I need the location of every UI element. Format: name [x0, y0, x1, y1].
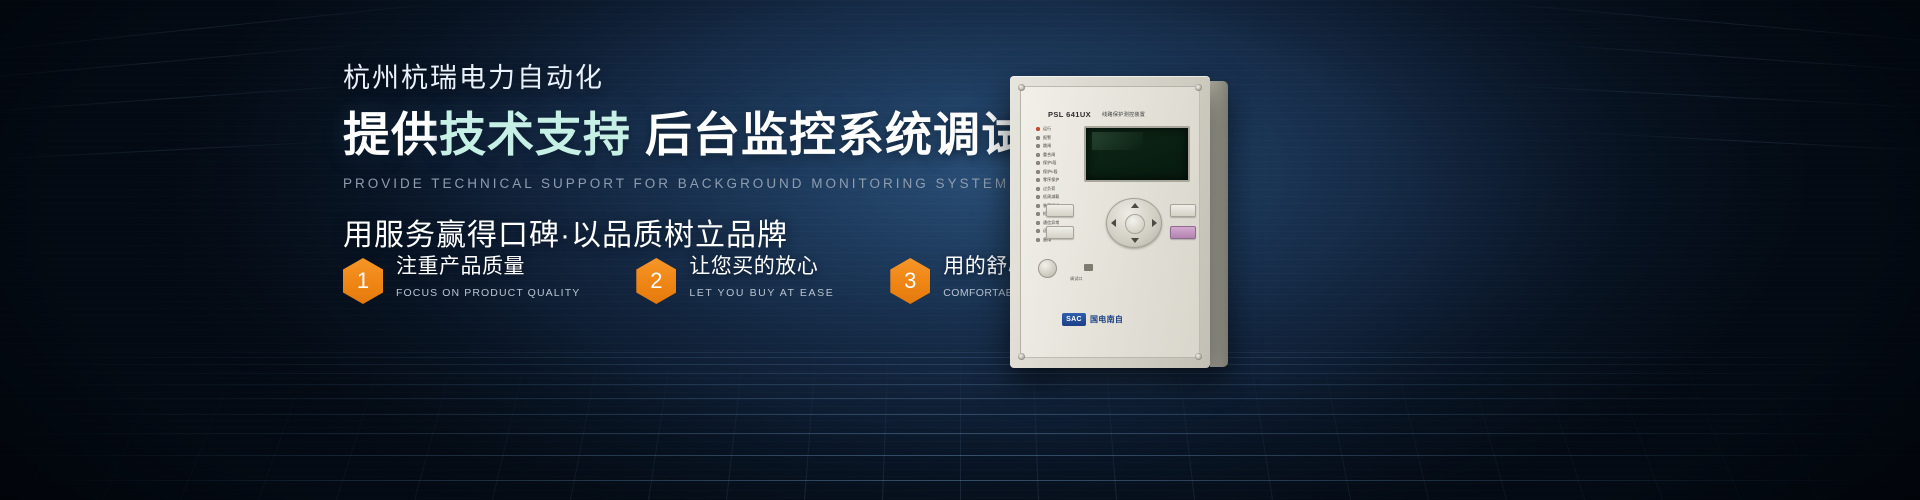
- led-indicator-icon: [1036, 221, 1040, 225]
- arrow-up-icon[interactable]: [1131, 203, 1139, 208]
- device-led-row: 报警: [1036, 134, 1080, 143]
- device-case: PSL 641UX 线路保护测控装置 运行报警跳闸重合闸保护I段保护II段零序保…: [1010, 76, 1210, 368]
- screw-icon: [1195, 84, 1202, 91]
- device-lcd-screen: [1084, 126, 1190, 182]
- grid-line-vertical: [180, 350, 242, 500]
- grid-line-horizontal: [0, 364, 1920, 365]
- led-indicator-icon: [1036, 204, 1040, 208]
- led-indicator-icon: [1036, 170, 1040, 174]
- headline-part-1: 提供: [343, 108, 439, 161]
- promo-banner: 杭州杭瑞电力自动化 提供技术支持后台监控系统调试 PROVIDE TECHNIC…: [0, 0, 1920, 500]
- led-label: 保护II段: [1043, 169, 1058, 175]
- grid-line-vertical: [1679, 350, 1741, 500]
- grid-line-vertical: [1321, 350, 1351, 500]
- grid-line-vertical: [726, 350, 744, 500]
- feature-text: 让您买的放心 LET YOU BUY AT EASE: [689, 255, 834, 299]
- arrow-left-icon[interactable]: [1111, 219, 1116, 227]
- grid-line-vertical: [960, 350, 961, 500]
- led-indicator-icon: [1036, 144, 1040, 148]
- banner-english-subtitle: PROVIDE TECHNICAL SUPPORT FOR BACKGROUND…: [343, 176, 983, 191]
- grid-line-vertical: [1822, 350, 1897, 500]
- device-button[interactable]: [1046, 226, 1074, 239]
- light-streak: [0, 141, 340, 161]
- perspective-grid: [0, 350, 1920, 500]
- light-streak: [1481, 1, 1920, 47]
- feature-number: 2: [636, 258, 676, 304]
- grid-line-vertical: [1249, 350, 1273, 500]
- grid-line-vertical: [1751, 350, 1819, 500]
- feature-title-cn: 注重产品质量: [396, 255, 580, 278]
- grid-line-vertical: [1465, 350, 1507, 500]
- brand-name: 国电南自: [1090, 314, 1123, 325]
- device-led-row: 低周减载: [1036, 193, 1080, 202]
- device-led-row: 运行: [1036, 125, 1080, 134]
- feature-text: 注重产品质量 FOCUS ON PRODUCT QUALITY: [396, 255, 580, 299]
- banner-kicker: 杭州杭瑞电力自动化: [343, 62, 983, 94]
- led-label: 零序保护: [1043, 177, 1059, 183]
- device-led-row: 零序保护: [1036, 176, 1080, 185]
- light-streak: [0, 1, 459, 56]
- grid-line-vertical: [1393, 350, 1429, 500]
- screw-icon: [1018, 84, 1025, 91]
- light-streak: [0, 42, 389, 84]
- light-streak: [1500, 85, 1920, 109]
- led-indicator-icon: [1036, 153, 1040, 157]
- grid-line-horizontal: [0, 414, 1920, 415]
- led-indicator-icon: [1036, 178, 1040, 182]
- screw-icon: [1195, 353, 1202, 360]
- grid-line-vertical: [336, 350, 385, 500]
- grid-line-horizontal: [0, 433, 1920, 434]
- grid-line-vertical: [1892, 350, 1920, 500]
- led-indicator-icon: [1036, 195, 1040, 199]
- feature-title-cn: 让您买的放心: [689, 255, 834, 278]
- device-case-side: [1210, 81, 1228, 367]
- led-indicator-icon: [1036, 127, 1040, 131]
- banner-copy: 杭州杭瑞电力自动化 提供技术支持后台监控系统调试 PROVIDE TECHNIC…: [343, 62, 983, 254]
- led-indicator-icon: [1036, 229, 1040, 233]
- device-button[interactable]: [1046, 204, 1074, 217]
- grid-line-horizontal: [0, 373, 1920, 374]
- hexagon-badge: 3: [890, 258, 930, 304]
- led-label: 低周减载: [1043, 194, 1059, 200]
- brand-logo-icon: SAC: [1062, 313, 1086, 326]
- grid-line-horizontal: [0, 455, 1920, 456]
- hexagon-badge: 2: [636, 258, 676, 304]
- grid-line-vertical: [648, 350, 672, 500]
- led-indicator-icon: [1036, 238, 1040, 242]
- grid-line-horizontal: [0, 480, 1920, 481]
- led-indicator-icon: [1036, 136, 1040, 140]
- navpad-center-button[interactable]: [1125, 214, 1145, 234]
- device-led-row: 跳闸: [1036, 142, 1080, 151]
- arrow-down-icon[interactable]: [1131, 238, 1139, 243]
- led-indicator-icon: [1036, 212, 1040, 216]
- grid-line-vertical: [570, 350, 600, 500]
- arrow-right-icon[interactable]: [1152, 219, 1157, 227]
- device-knob[interactable]: [1038, 259, 1057, 278]
- grid-line-horizontal: [0, 384, 1920, 385]
- led-label: 运行: [1043, 126, 1051, 132]
- feature-item: 2 让您买的放心 LET YOU BUY AT EASE: [636, 255, 834, 304]
- feature-list: 1 注重产品质量 FOCUS ON PRODUCT QUALITY 2 让您买的…: [343, 255, 1071, 304]
- feature-title-en: LET YOU BUY AT EASE: [689, 287, 834, 299]
- banner-headline: 提供技术支持后台监控系统调试: [343, 108, 983, 163]
- screw-icon: [1018, 353, 1025, 360]
- device-led-row: 过负荷: [1036, 185, 1080, 194]
- grid-line-vertical: [24, 350, 99, 500]
- device-navigation-pad[interactable]: [1106, 198, 1162, 248]
- device-debug-port: [1084, 264, 1093, 271]
- grid-line-vertical: [102, 350, 170, 500]
- led-label: 通信异常: [1043, 220, 1059, 226]
- headline-part-3: 后台监控系统调试: [645, 108, 1029, 161]
- hexagon-badge: 1: [343, 258, 383, 304]
- feature-number: 3: [890, 258, 930, 304]
- grid-line-vertical: [492, 350, 528, 500]
- device-model: PSL 641UX: [1048, 110, 1091, 119]
- product-device-image: PSL 641UX 线路保护测控装置 运行报警跳闸重合闸保护I段保护II段零序保…: [1010, 76, 1228, 376]
- led-label: 过负荷: [1043, 186, 1055, 192]
- led-label: 重合闸: [1043, 152, 1055, 158]
- light-streak: [1521, 42, 1920, 75]
- banner-slogan: 用服务赢得口碑·以品质树立品牌: [343, 210, 983, 254]
- grid-line-horizontal: [0, 398, 1920, 399]
- device-led-row: 保护II段: [1036, 168, 1080, 177]
- led-label: 保护I段: [1043, 160, 1057, 166]
- feature-number: 1: [343, 258, 383, 304]
- device-port-label: 调试口: [1070, 276, 1083, 282]
- grid-line-vertical: [414, 350, 456, 500]
- grid-line-vertical: [804, 350, 817, 500]
- device-led-row: 保护I段: [1036, 159, 1080, 168]
- led-label: 报警: [1043, 135, 1051, 141]
- device-button[interactable]: [1170, 204, 1196, 217]
- feature-title-en: FOCUS ON PRODUCT QUALITY: [396, 287, 580, 299]
- device-model-subtitle: 线路保护测控装置: [1102, 111, 1145, 118]
- light-streak: [1580, 132, 1920, 153]
- led-indicator-icon: [1036, 161, 1040, 165]
- grid-line-horizontal: [0, 357, 1920, 358]
- light-streak: [0, 83, 380, 113]
- led-label: 跳闸: [1043, 143, 1051, 149]
- grid-line-vertical: [882, 350, 889, 500]
- grid-line-horizontal: [0, 352, 1920, 353]
- device-led-row: 重合闸: [1036, 151, 1080, 160]
- grid-line-vertical: [258, 350, 313, 500]
- feature-item: 1 注重产品质量 FOCUS ON PRODUCT QUALITY: [343, 255, 580, 304]
- device-brand: SAC 国电南自: [1062, 313, 1123, 326]
- grid-line-vertical: [1608, 350, 1663, 500]
- led-indicator-icon: [1036, 187, 1040, 191]
- grid-line-vertical: [1536, 350, 1585, 500]
- device-button-reset[interactable]: [1170, 226, 1196, 239]
- grid-line-vertical: [0, 350, 29, 500]
- headline-part-2: 技术支持: [439, 108, 631, 161]
